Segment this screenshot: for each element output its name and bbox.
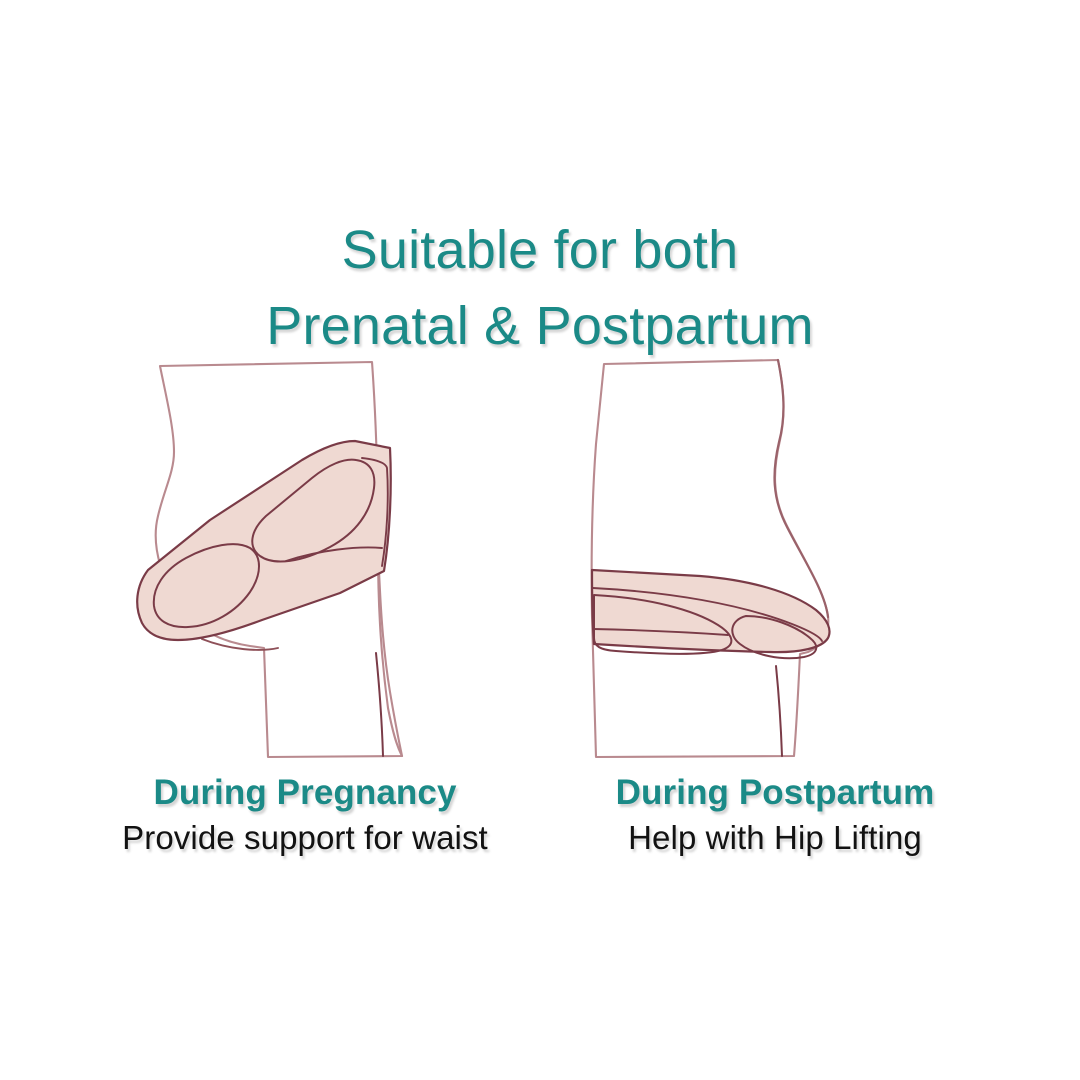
illustration-postpartum xyxy=(560,348,990,768)
promo-graphic-root: Suitable for both Prenatal & Postpartum xyxy=(0,0,1080,1080)
heading-line-1: Suitable for both xyxy=(0,212,1080,288)
torso-outline-path xyxy=(592,360,829,757)
caption-title-pregnancy: During Pregnancy xyxy=(70,770,540,816)
caption-subtitle-postpartum: Help with Hip Lifting xyxy=(540,816,1010,860)
page-title: Suitable for both Prenatal & Postpartum xyxy=(0,212,1080,364)
caption-subtitle-pregnancy: Provide support for waist xyxy=(70,816,540,860)
pregnant-torso-svg xyxy=(90,348,520,768)
caption-title-postpartum: During Postpartum xyxy=(540,770,1010,816)
caption-pregnancy: During Pregnancy Provide support for wai… xyxy=(70,770,540,860)
illustration-pregnancy xyxy=(90,348,520,768)
postpartum-hip-svg xyxy=(560,348,990,768)
caption-postpartum: During Postpartum Help with Hip Lifting xyxy=(540,770,1010,860)
